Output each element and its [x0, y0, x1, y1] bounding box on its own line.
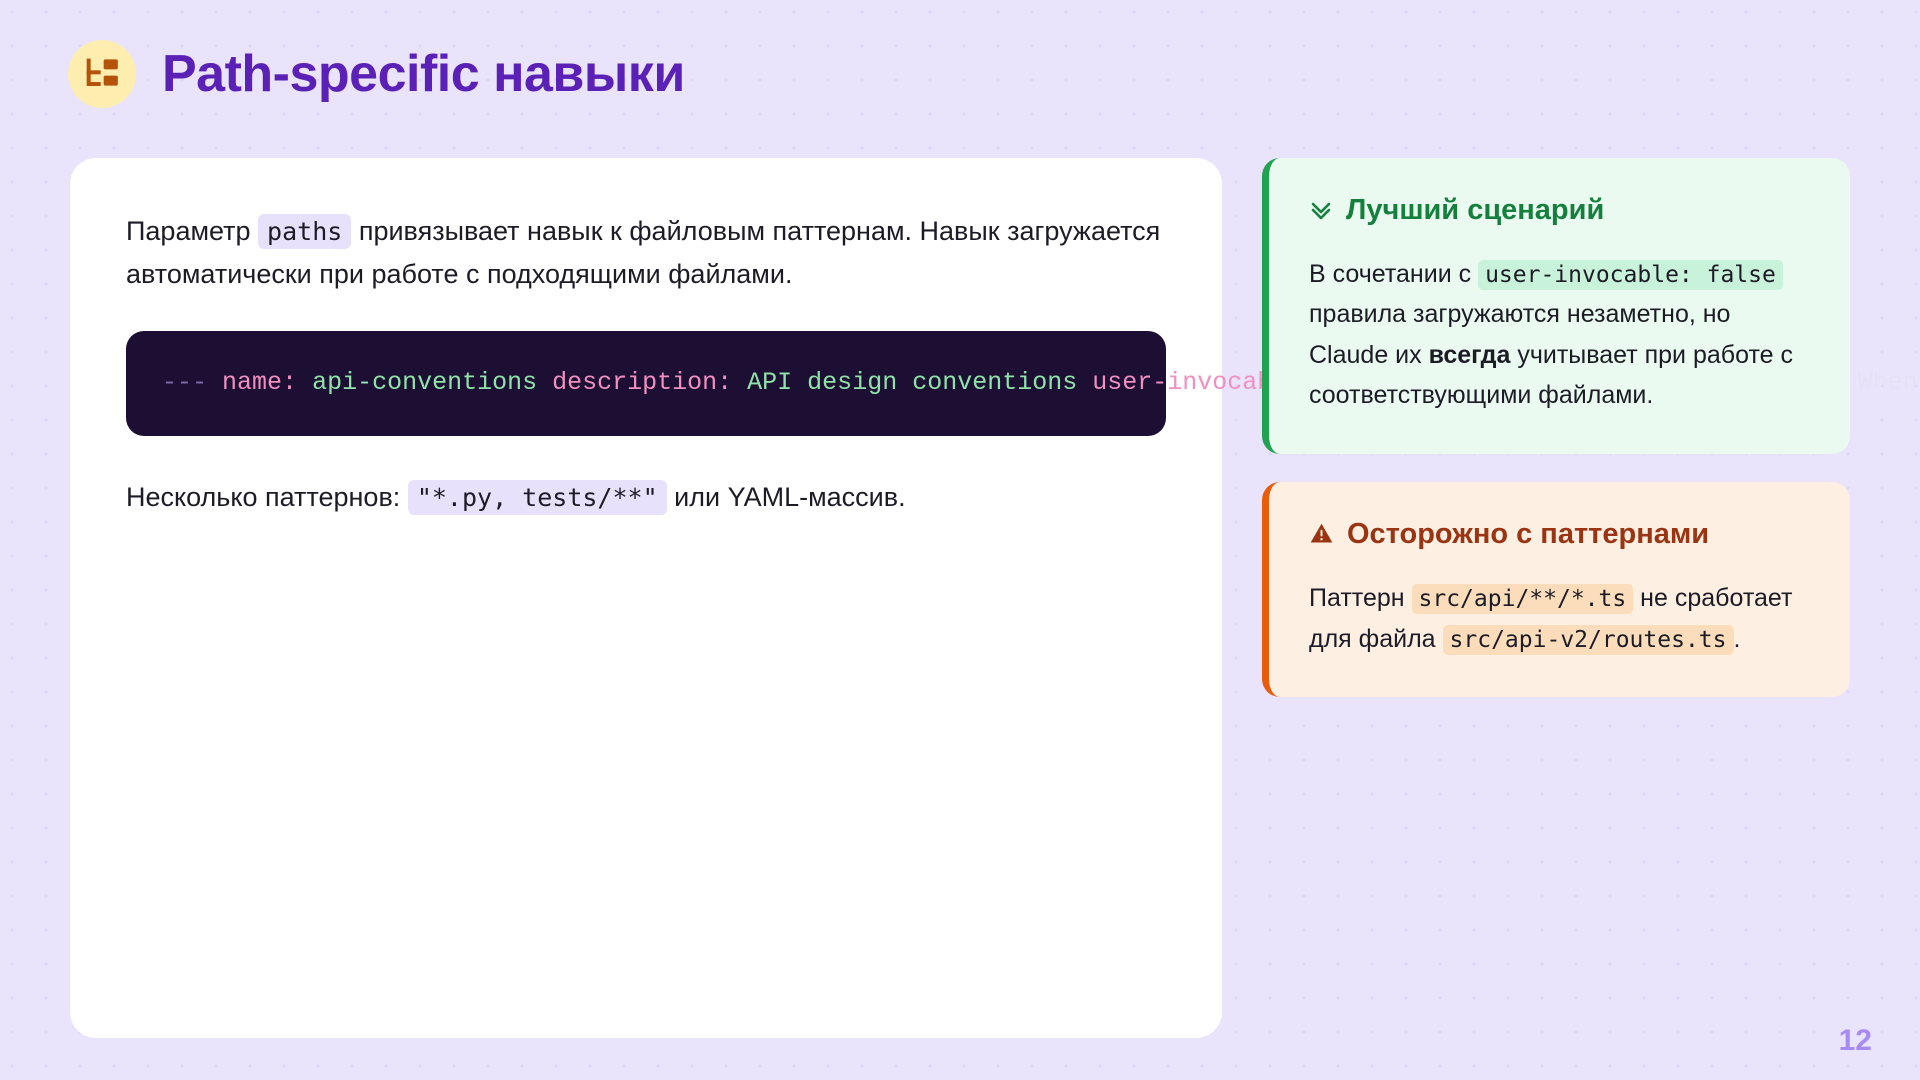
callout-pattern-warning: Осторожно с паттернами Паттерн src/api/*…	[1262, 482, 1850, 698]
callout-text-1-0: Паттерн	[1309, 584, 1412, 612]
double-check-icon	[1309, 192, 1333, 232]
code-token-4: api-conventions	[312, 368, 537, 397]
code-token-5	[537, 368, 552, 397]
callout-emphasis-0-3: всегда	[1429, 341, 1511, 369]
slide-header: Path-specific навыки	[68, 40, 685, 108]
code-token-0: ---	[162, 368, 207, 397]
callout-pattern-warning-body: Паттерн src/api/**/*.ts не сработает для…	[1309, 578, 1810, 659]
folder-tree-icon	[82, 54, 122, 94]
code-token-1	[207, 368, 222, 397]
callout-best-case: Лучший сценарий В сочетании с user-invoc…	[1262, 158, 1850, 454]
code-token-6: description:	[552, 368, 732, 397]
code-token-2: name:	[222, 368, 297, 397]
callout-pattern-warning-title: Осторожно с паттернами	[1309, 516, 1810, 557]
callout-inline-code-1-1: src/api/**/*.ts	[1412, 584, 1634, 614]
warning-triangle-icon	[1309, 516, 1334, 557]
patterns-note-after: или YAML-массив.	[674, 482, 905, 512]
page-title: Path-specific навыки	[162, 48, 685, 100]
code-token-3	[297, 368, 312, 397]
callout-best-case-title: Лучший сценарий	[1309, 192, 1810, 232]
callout-best-case-body: В сочетании с user-invocable: false прав…	[1309, 254, 1810, 416]
yaml-code-block: --- name: api-conventions description: A…	[126, 331, 1166, 436]
inline-code-paths: paths	[258, 214, 351, 249]
patterns-note-before: Несколько паттернов:	[126, 482, 400, 512]
callout-text-1-4: .	[1734, 625, 1741, 653]
callout-inline-code-1-3: src/api-v2/routes.ts	[1443, 625, 1734, 655]
callout-pattern-warning-label: Осторожно с паттернами	[1347, 516, 1709, 554]
code-token-9	[1077, 368, 1092, 397]
main-panel: Параметр paths привязывает навык к файло…	[70, 158, 1222, 1038]
inline-code-multi-pattern: "*.py, tests/**"	[408, 480, 667, 515]
code-token-19: When writing API endpoints: - RESTful na…	[1842, 368, 1920, 397]
side-column: Лучший сценарий В сочетании с user-invoc…	[1262, 158, 1850, 697]
page-number: 12	[1839, 1024, 1872, 1058]
lead-text-before: Параметр	[126, 216, 251, 246]
code-token-8: API design conventions	[747, 368, 1077, 397]
header-badge	[68, 40, 136, 108]
code-token-7	[732, 368, 747, 397]
callout-inline-code-0-1: user-invocable: false	[1478, 260, 1783, 290]
lead-paragraph: Параметр paths привязывает навык к файло…	[126, 210, 1166, 295]
patterns-note: Несколько паттернов: "*.py, tests/**" ил…	[126, 476, 1166, 519]
callout-best-case-label: Лучший сценарий	[1346, 192, 1604, 230]
callout-text-0-0: В сочетании с	[1309, 260, 1478, 288]
